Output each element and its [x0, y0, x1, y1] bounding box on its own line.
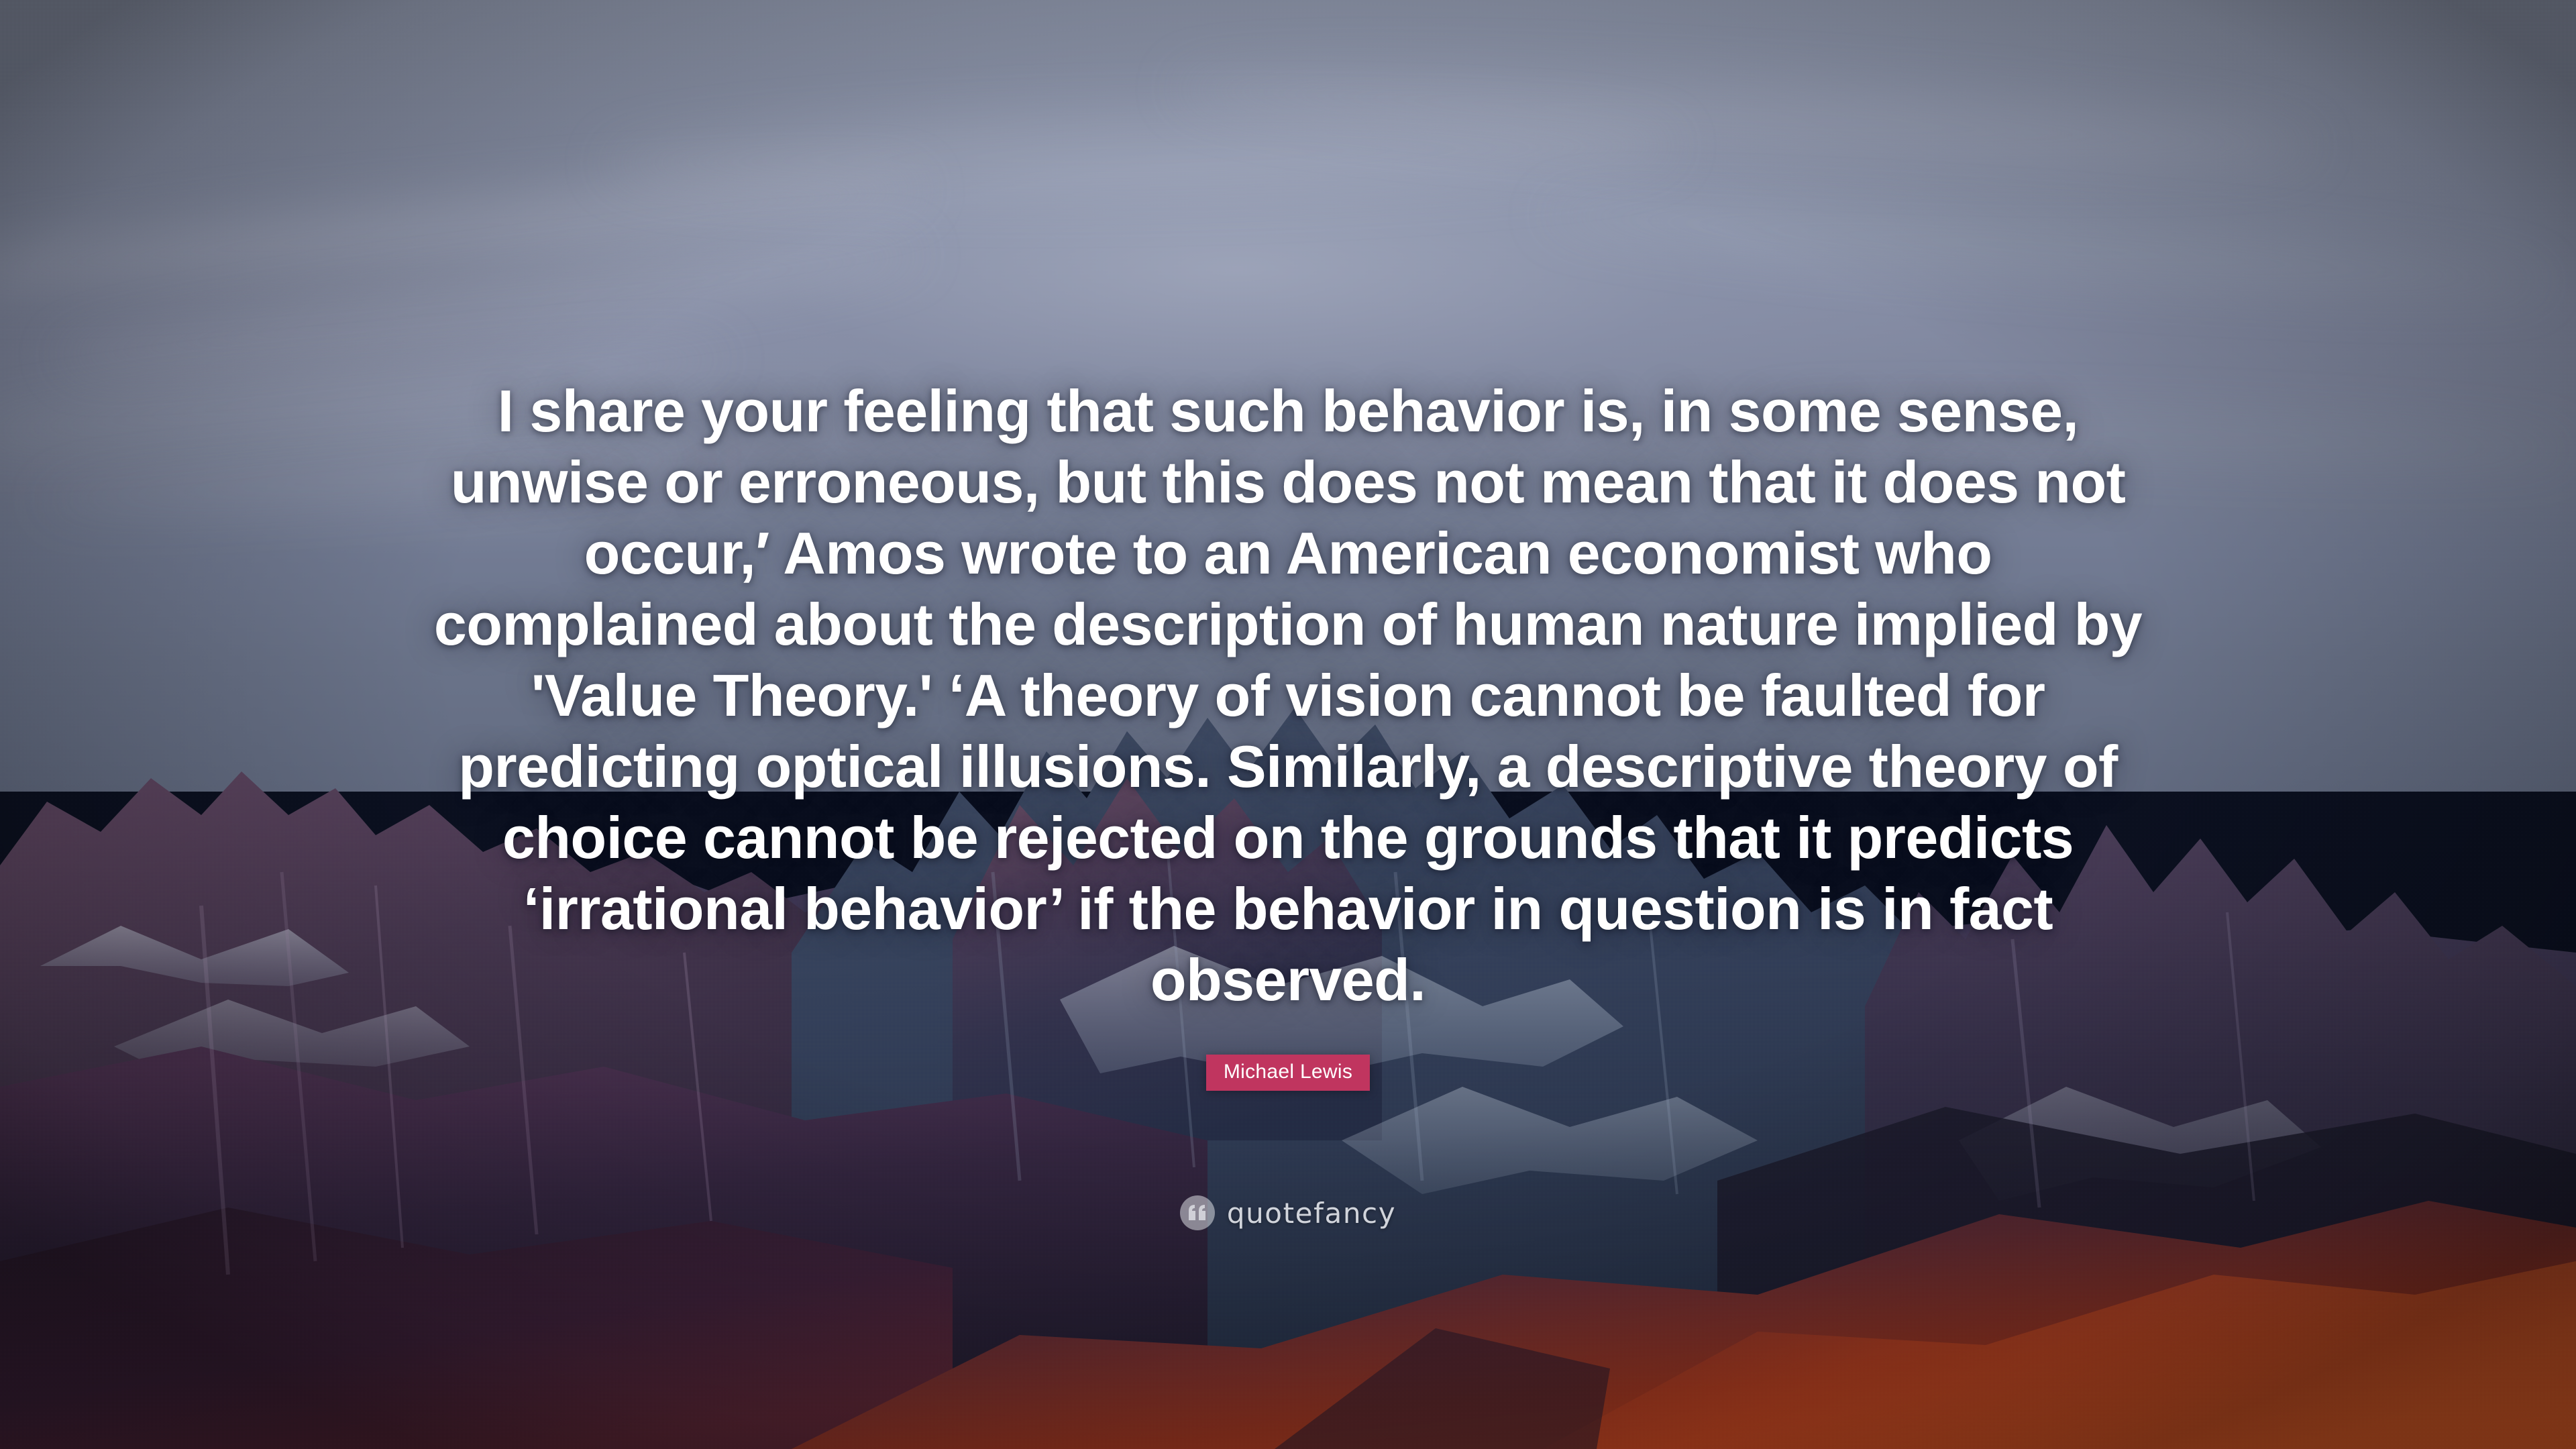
- wallpaper-canvas: I share your feeling that such behavior …: [0, 0, 2576, 1449]
- quote-content: I share your feeling that such behavior …: [0, 0, 2576, 1449]
- quote-text: I share your feeling that such behavior …: [429, 376, 2147, 1016]
- quotation-mark-icon: [1180, 1195, 1215, 1230]
- brand-wordmark: quotefancy: [1227, 1197, 1396, 1230]
- author-attribution: Michael Lewis: [1206, 1055, 1370, 1091]
- author-badge[interactable]: Michael Lewis: [1206, 1055, 1370, 1091]
- quotefancy-logo[interactable]: quotefancy: [1180, 1195, 1396, 1230]
